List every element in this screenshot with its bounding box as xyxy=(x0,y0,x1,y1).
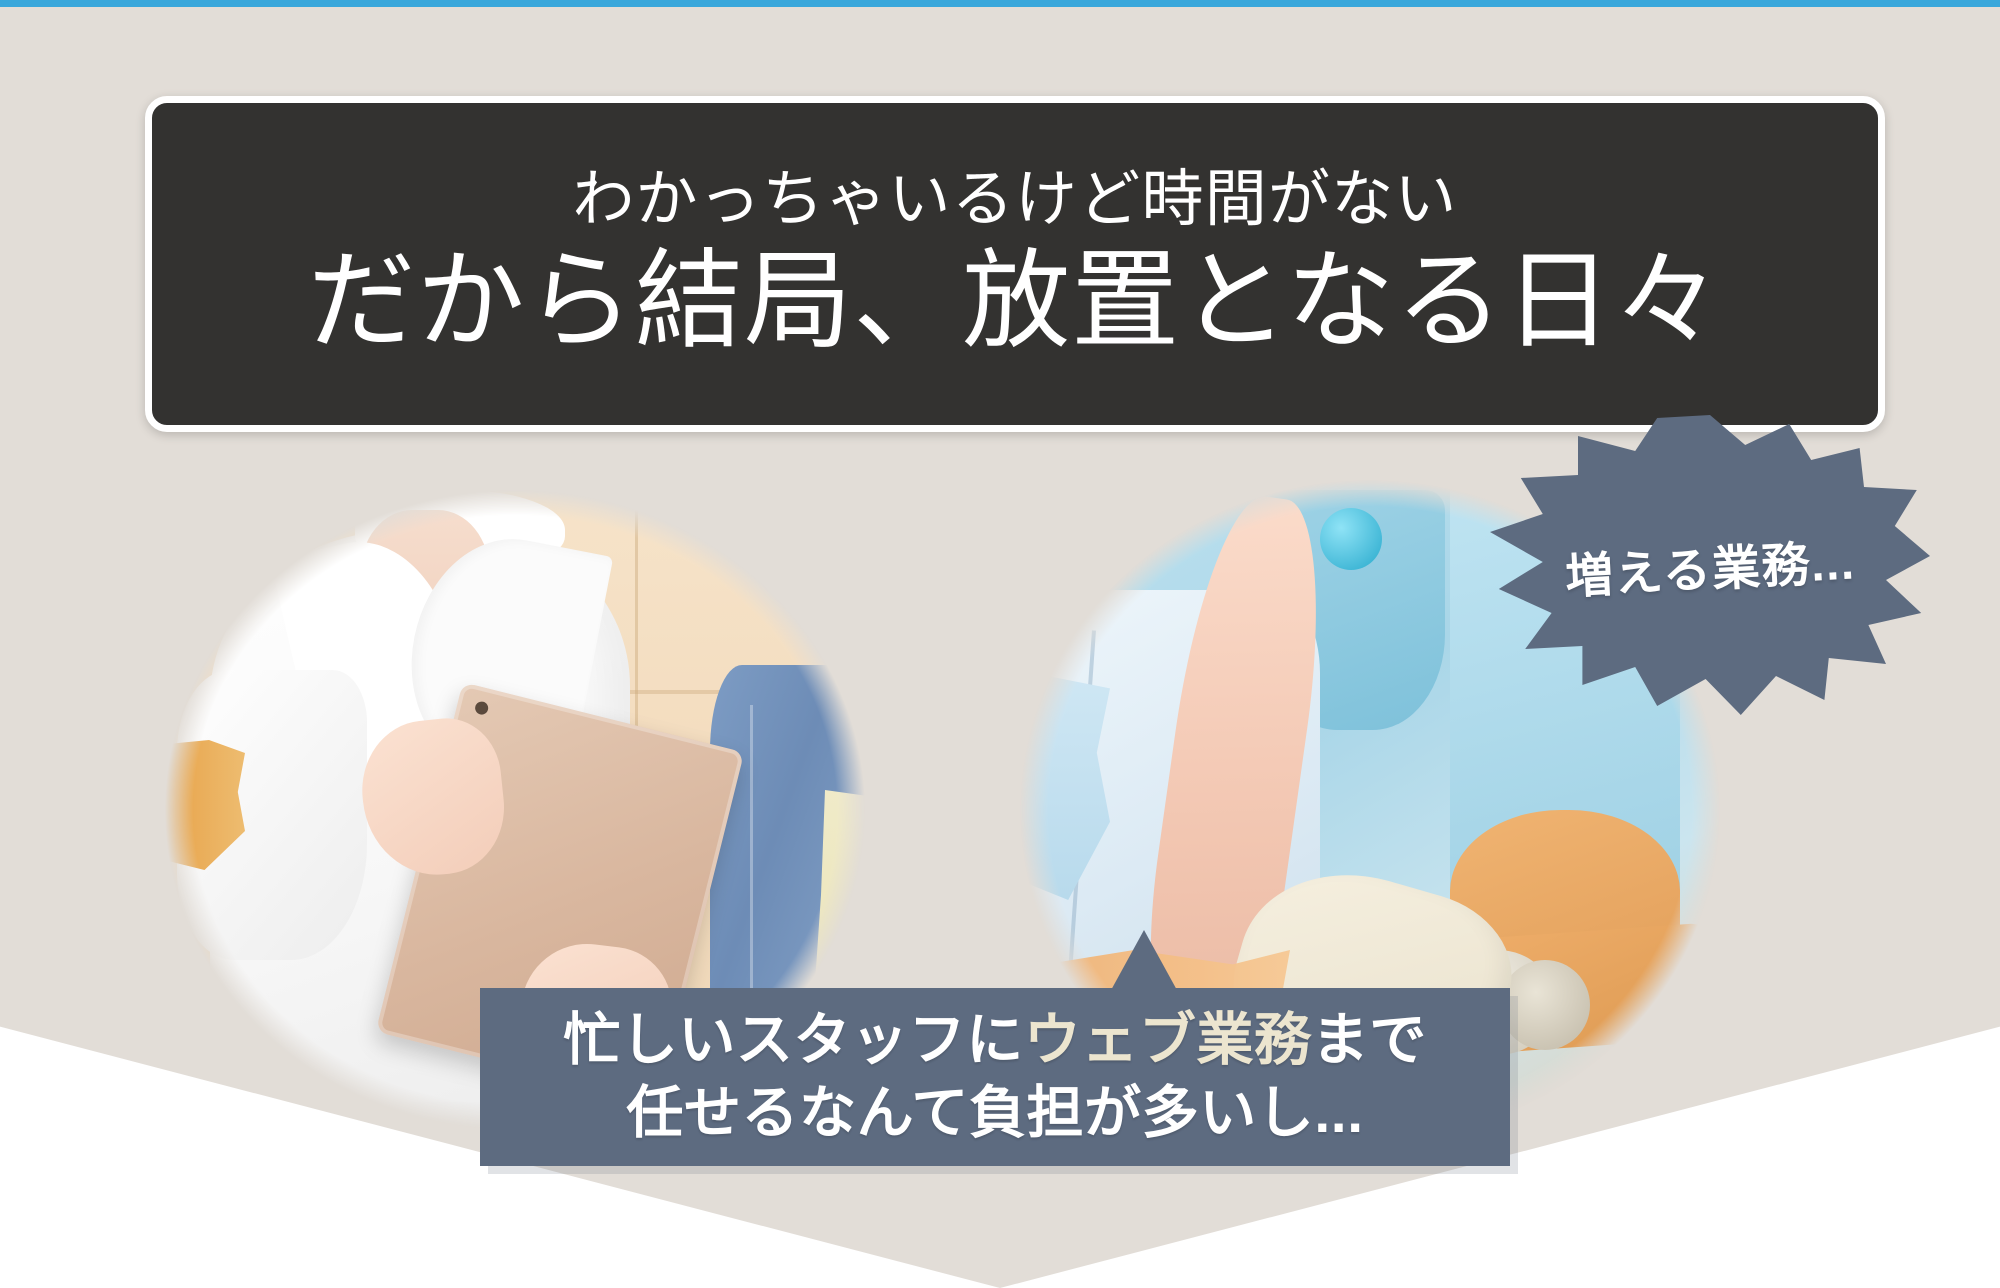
caption-balloon-tail xyxy=(1110,930,1178,992)
caption-line-1-after: まで xyxy=(1312,1008,1427,1072)
caption-line-1-highlight: ウェブ業務 xyxy=(1024,1008,1312,1072)
caption-line-1: 忙しいスタッフにウェブ業務まで xyxy=(563,1004,1427,1077)
photo-left-tablet-camera xyxy=(474,700,490,716)
headline-plaque: わかっちゃいるけど時間がない だから結局、放置となる日々 xyxy=(145,96,1885,432)
photo-right-knob xyxy=(1320,508,1382,570)
photo-left-denim-seam xyxy=(750,705,753,1035)
caption-balloon: 忙しいスタッフにウェブ業務まで 任せるなんて負担が多いし... xyxy=(480,988,1510,1166)
starburst-callout-text: 増える業務... xyxy=(1563,522,1856,607)
headline-title: だから結局、放置となる日々 xyxy=(308,242,1723,363)
page-root: わかっちゃいるけど時間がない だから結局、放置となる日々 xyxy=(0,0,2000,1288)
caption-line-2: 任せるなんて負担が多いし... xyxy=(626,1077,1363,1150)
photo-right-roller xyxy=(1500,960,1590,1050)
top-accent-strip xyxy=(0,0,2000,7)
headline-subtitle: わかっちゃいるけど時間がない xyxy=(572,165,1457,233)
caption-line-1-before: 忙しいスタッフに xyxy=(563,1008,1024,1072)
